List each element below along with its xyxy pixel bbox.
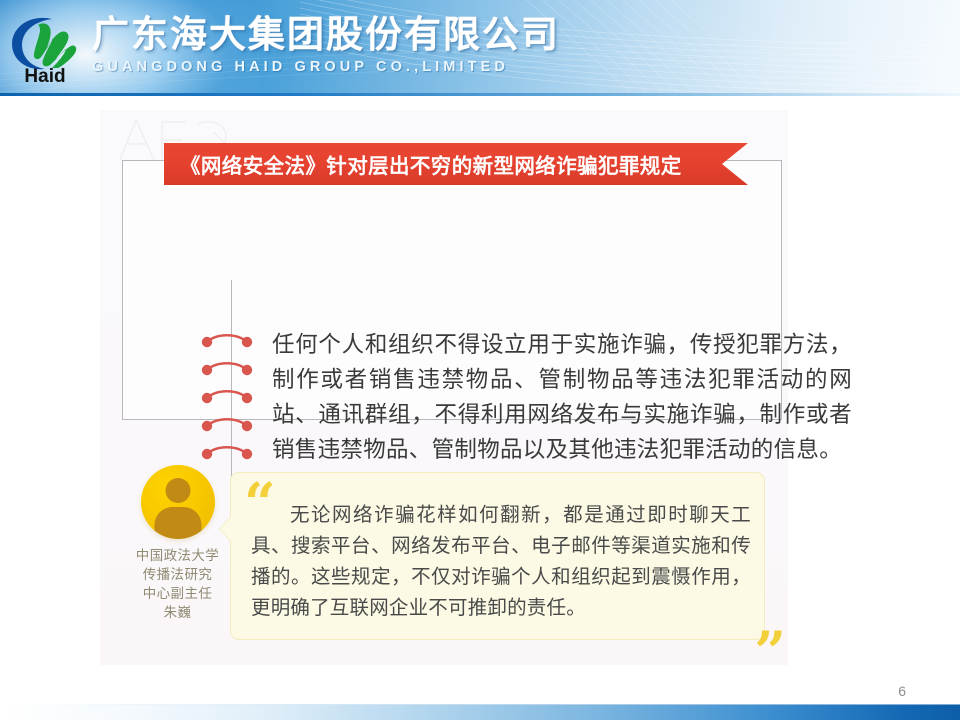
person-avatar-icon: [141, 465, 215, 539]
company-name-cn: 广东海大集团股份有限公司: [92, 16, 560, 53]
svg-text:Haid: Haid: [24, 66, 65, 85]
footer-bar: [0, 705, 960, 720]
callout-tail: [220, 517, 231, 541]
dumbbell-bullet-decoration: [201, 332, 263, 472]
company-name-en: GUANGDONG HAID GROUP CO.,LIMITED: [92, 60, 560, 75]
slide-header: Haid 广东海大集团股份有限公司 GUANGDONG HAID GROUP C…: [0, 0, 960, 96]
header-divider: [0, 93, 960, 96]
expert-quote-text: 无论网络诈骗花样如何翻新，都是通过即时聊天工具、搜索平台、网络发布平台、电子邮件…: [251, 499, 751, 623]
expert-caption-line-2: 传播法研究: [115, 566, 240, 585]
expert-caption: 中国政法大学 传播法研究 中心副主任 朱巍: [115, 547, 240, 623]
avatar-head: [165, 478, 190, 503]
expert-profile: 中国政法大学 传播法研究 中心副主任 朱巍: [115, 465, 240, 623]
avatar-body: [154, 507, 201, 539]
page-number: 6: [898, 683, 906, 699]
expert-caption-line-3: 中心副主任: [115, 585, 240, 604]
expert-caption-line-1: 中国政法大学: [115, 547, 240, 566]
content-card: 《网络安全法》针对层出不穷的新型网络诈骗犯罪规定: [100, 110, 788, 665]
quote-close-icon: ”: [754, 624, 786, 679]
expert-caption-line-4: 朱巍: [115, 604, 240, 623]
expert-quote-callout: “ 无论网络诈骗花样如何翻新，都是通过即时聊天工具、搜索平台、网络发布平台、电子…: [230, 472, 765, 640]
law-banner-title: 《网络安全法》针对层出不穷的新型网络诈骗犯罪规定: [180, 149, 682, 179]
law-banner: 《网络安全法》针对层出不穷的新型网络诈骗犯罪规定: [164, 143, 748, 185]
haid-logo-icon: Haid: [8, 13, 82, 85]
law-body-text: 任何个人和组织不得设立用于实施诈骗，传授犯罪方法，制作或者销售违禁物品、管制物品…: [272, 328, 852, 468]
slide-root: Haid 广东海大集团股份有限公司 GUANGDONG HAID GROUP C…: [0, 0, 960, 720]
company-title-block: 广东海大集团股份有限公司 GUANGDONG HAID GROUP CO.,LI…: [92, 16, 560, 75]
